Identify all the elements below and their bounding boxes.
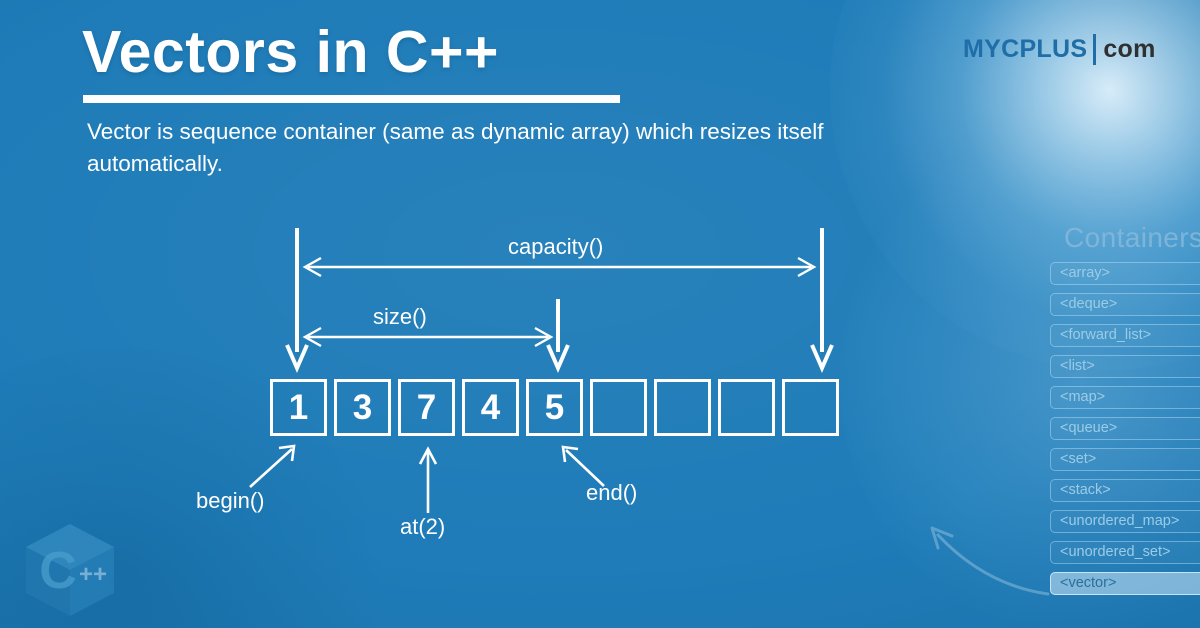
page-title: Vectors in C++: [82, 23, 499, 82]
container-list-item[interactable]: <unordered_map>: [1050, 510, 1200, 533]
begin-callout-arrow: [250, 446, 294, 487]
pointer-line-begin: [287, 228, 307, 368]
end-label: end(): [586, 482, 637, 504]
vector-cell: 3: [334, 379, 391, 436]
capacity-label: capacity(): [508, 236, 603, 258]
container-list-item[interactable]: <forward_list>: [1050, 324, 1200, 347]
containers-list: <array><deque><forward_list><list><map><…: [1050, 262, 1200, 603]
container-list-item[interactable]: <stack>: [1050, 479, 1200, 502]
vector-cell: [718, 379, 775, 436]
vector-cell: [654, 379, 711, 436]
container-list-item[interactable]: <vector>: [1050, 572, 1200, 595]
vector-cell: [782, 379, 839, 436]
container-list-item[interactable]: <set>: [1050, 448, 1200, 471]
container-list-item[interactable]: <list>: [1050, 355, 1200, 378]
at-label: at(2): [400, 516, 445, 538]
container-list-item[interactable]: <deque>: [1050, 293, 1200, 316]
vector-cell: 1: [270, 379, 327, 436]
capacity-measure-arrow: [305, 258, 814, 276]
at-callout-arrow: [420, 449, 436, 513]
svg-text:C: C: [39, 542, 77, 600]
size-label: size(): [373, 306, 427, 328]
svg-text:++: ++: [79, 561, 107, 588]
vector-cell: 7: [398, 379, 455, 436]
begin-label: begin(): [196, 490, 264, 512]
vector-cells-row: 13745: [270, 379, 839, 436]
vector-highlight-curved-arrow: [932, 528, 1048, 594]
vector-cell: [590, 379, 647, 436]
cpp-logo-watermark: C ++: [18, 518, 122, 622]
logo-suffix-text: com: [1103, 35, 1155, 64]
logo-divider: [1093, 34, 1096, 65]
vector-cell: 5: [526, 379, 583, 436]
container-list-item[interactable]: <unordered_set>: [1050, 541, 1200, 564]
slide-canvas: C ++ Vectors in C++ Vector is sequence c…: [0, 0, 1200, 628]
containers-heading: Containers: [1064, 222, 1200, 254]
container-list-item[interactable]: <queue>: [1050, 417, 1200, 440]
pointer-line-end: [548, 299, 568, 368]
title-underline: [83, 95, 620, 103]
vector-cell: 4: [462, 379, 519, 436]
logo-brand-text: MYCPLUS: [963, 35, 1087, 64]
page-subtitle: Vector is sequence container (same as dy…: [87, 116, 877, 180]
container-list-item[interactable]: <array>: [1050, 262, 1200, 285]
size-measure-arrow: [305, 328, 551, 346]
pointer-line-capacity-end: [812, 228, 832, 368]
container-list-item[interactable]: <map>: [1050, 386, 1200, 409]
site-logo[interactable]: MYCPLUS com: [963, 34, 1156, 65]
